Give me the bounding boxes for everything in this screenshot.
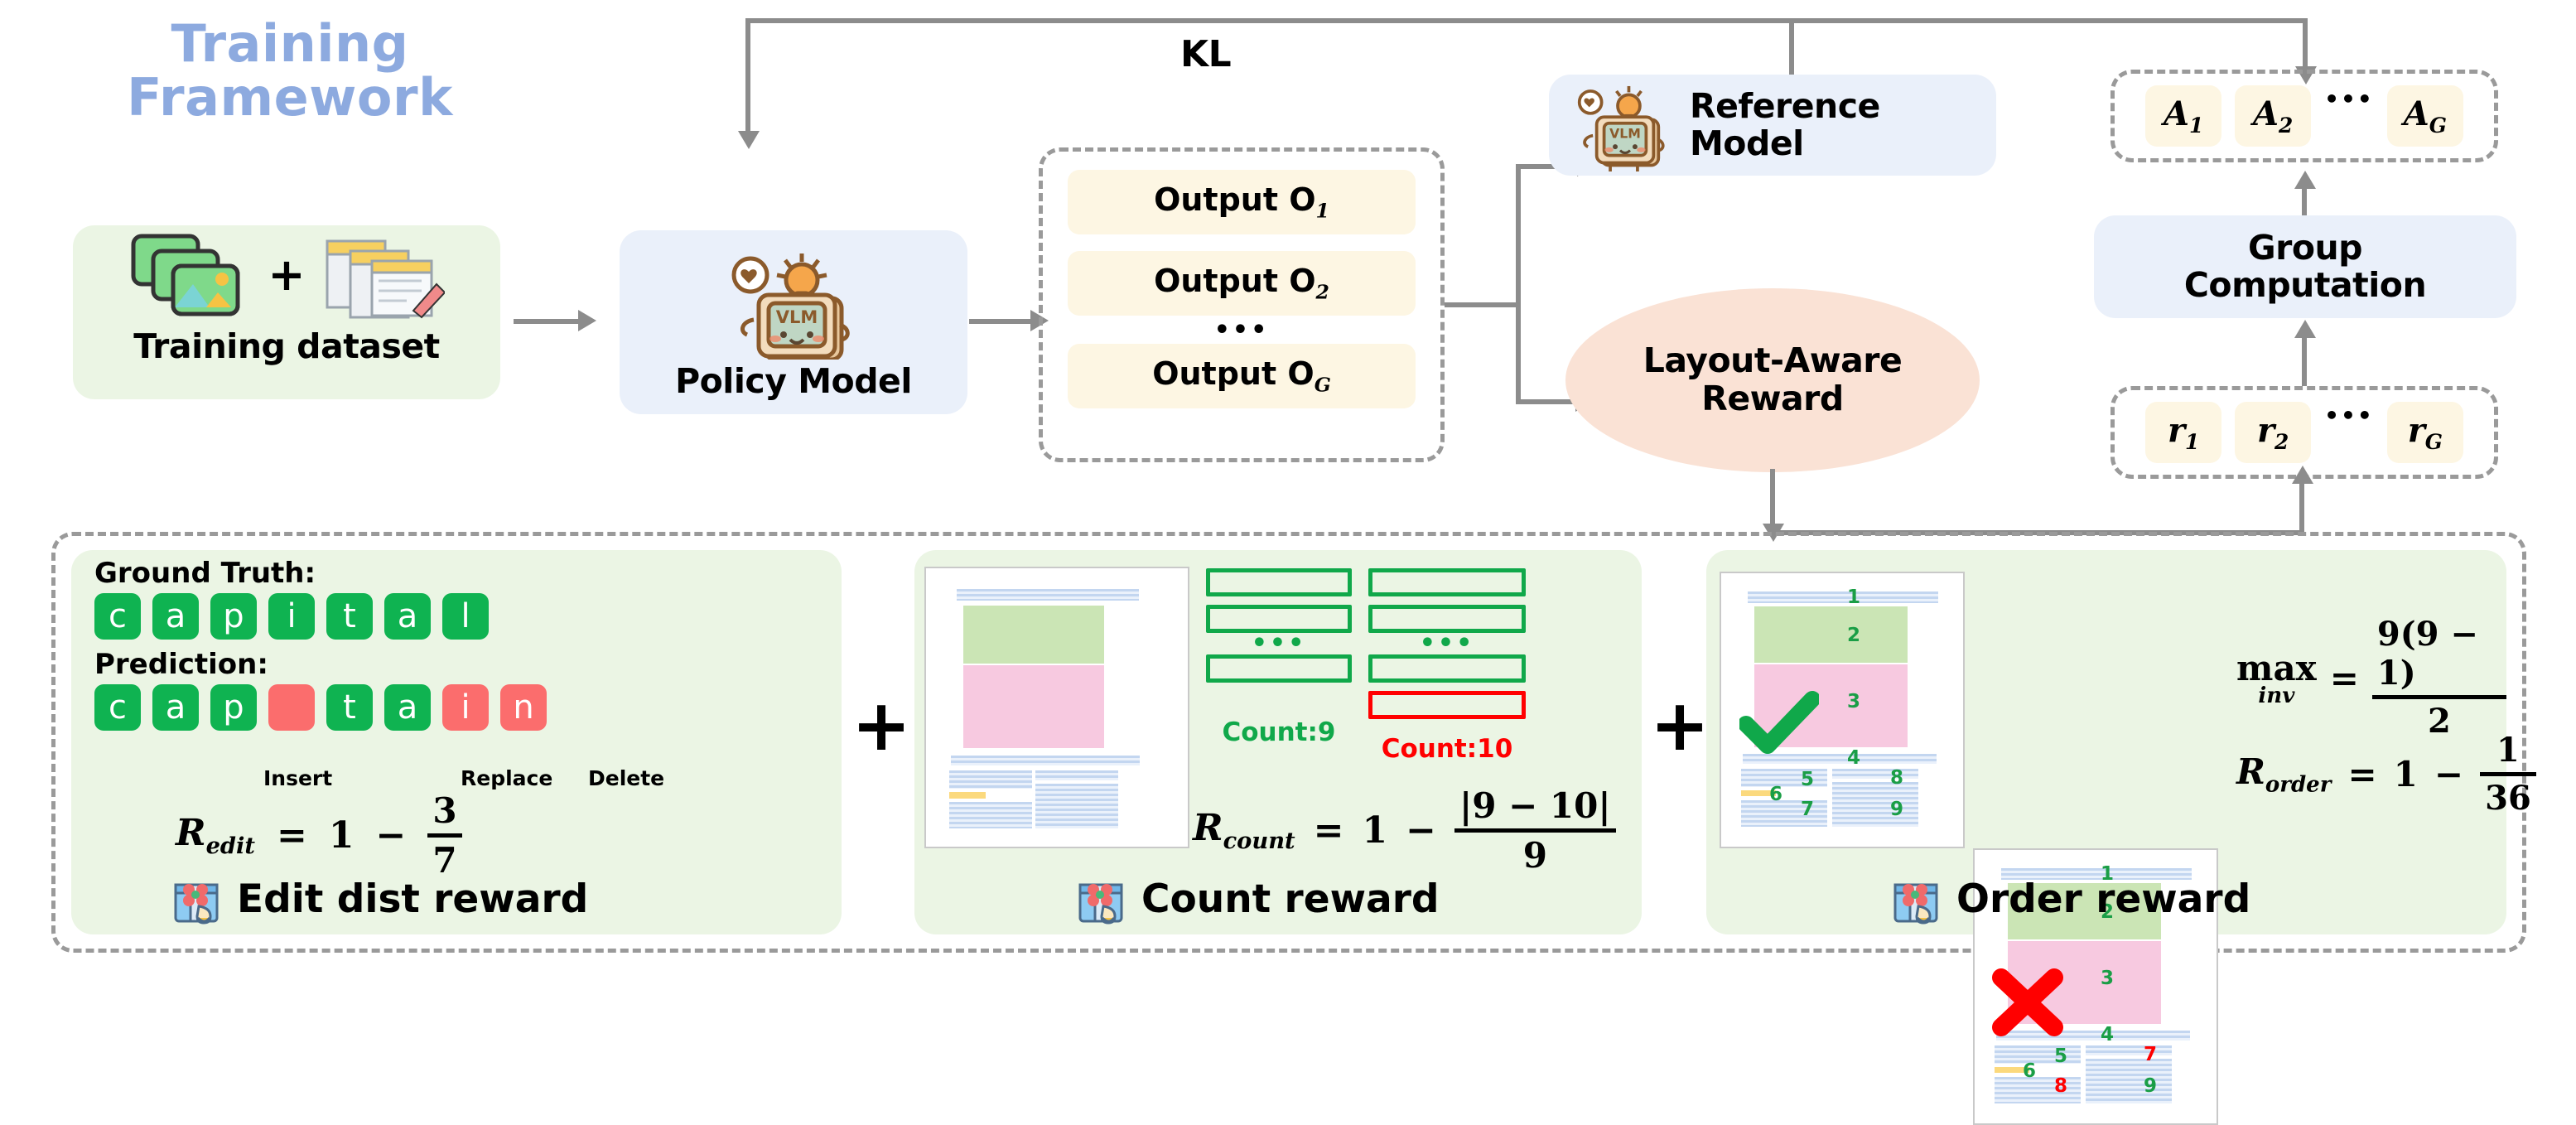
cross-icon bbox=[1991, 968, 2064, 1037]
count-document-mock bbox=[924, 567, 1189, 848]
kl-line-from-reference bbox=[1789, 18, 1794, 75]
order-formula-minus: − bbox=[2434, 754, 2463, 794]
doc-col-right-2 bbox=[1035, 784, 1118, 828]
reward-label-1: r1 bbox=[2168, 411, 2199, 454]
count-formula-lhs: R bbox=[1193, 807, 1223, 849]
edit-reward-title-row: Edit dist reward bbox=[171, 873, 588, 925]
pred-tile-insert bbox=[268, 684, 315, 731]
arrow-rewards-to-groupcomp bbox=[2294, 320, 2316, 338]
order-num-wrong: 3 bbox=[2101, 968, 2114, 989]
pred-tile: a bbox=[152, 684, 199, 731]
count-box-red bbox=[1368, 691, 1526, 719]
order-num-correct: 6 bbox=[1769, 784, 1782, 805]
gt-tile: t bbox=[326, 593, 373, 640]
edit-reward-title: Edit dist reward bbox=[237, 876, 588, 922]
edit-formula-one: 1 bbox=[329, 814, 355, 857]
layout-reward-line2: Reward bbox=[1643, 380, 1903, 418]
gift-box-icon bbox=[1075, 873, 1126, 925]
order-formula-fraction: 1 36 bbox=[2480, 731, 2536, 818]
count-box-green bbox=[1206, 568, 1352, 596]
doc-title-line bbox=[1748, 591, 1938, 603]
output-label-1: Output O1 bbox=[1154, 181, 1329, 223]
op-label-insert: Insert bbox=[263, 766, 332, 790]
vlm-mascot-icon: VLM bbox=[1564, 79, 1681, 171]
reward-label-2: r2 bbox=[2257, 411, 2289, 454]
page-title: Training Framework bbox=[99, 17, 480, 124]
kl-line-left-down bbox=[745, 18, 750, 134]
count-formula-eq: = bbox=[1314, 809, 1344, 852]
output-item-1[interactable]: Output O1 bbox=[1068, 170, 1416, 234]
order-num-wrong: 4 bbox=[2101, 1024, 2114, 1045]
training-dataset-label: Training dataset bbox=[73, 326, 500, 366]
doc-col-left-1 bbox=[949, 770, 1032, 789]
order-reward-title: Order reward bbox=[1956, 876, 2250, 922]
policy-mascot-vlm-text: VLM bbox=[776, 307, 818, 327]
pred-tile: c bbox=[94, 684, 141, 731]
order-formula-sub: order bbox=[2265, 772, 2332, 797]
doc-highlight bbox=[949, 792, 986, 799]
count-reward-title-row: Count reward bbox=[1075, 873, 1440, 925]
gift-box-icon bbox=[171, 873, 222, 925]
order-formula-one: 1 bbox=[2394, 754, 2418, 794]
count-formula-minus: − bbox=[1406, 809, 1436, 852]
advantage-item-2[interactable]: A2 bbox=[2235, 85, 2311, 147]
advantage-label-2: A2 bbox=[2253, 94, 2293, 138]
order-num-correct: 2 bbox=[1847, 625, 1860, 646]
plus-separator-1: + bbox=[851, 684, 911, 767]
order-formula-num: 1 bbox=[2492, 731, 2525, 770]
order-max-lhs: max bbox=[2236, 648, 2317, 688]
count-formula-one: 1 bbox=[1362, 809, 1387, 852]
notepad-stack-icon bbox=[321, 229, 445, 319]
advantage-item-g[interactable]: AG bbox=[2387, 85, 2463, 147]
page-title-line1: Training bbox=[99, 17, 480, 70]
doc-line-wide bbox=[951, 756, 1140, 765]
layout-aware-reward-ellipse[interactable]: Layout-Aware Reward bbox=[1565, 288, 1980, 472]
doc-col-right-1 bbox=[1832, 769, 1918, 779]
op-label-replace: Replace bbox=[461, 766, 552, 790]
reference-model-label-line1: Reference bbox=[1690, 88, 1880, 125]
doc-pink-block bbox=[963, 665, 1104, 748]
prediction-label: Prediction: bbox=[94, 648, 842, 681]
order-reward-panel: 1 2 3 4 5 6 7 8 9 1 2 3 4 5 6 8 7 9 bbox=[1706, 550, 2506, 934]
gt-tile: l bbox=[442, 593, 489, 640]
count-box-green bbox=[1206, 654, 1352, 683]
policy-model-label: Policy Model bbox=[675, 361, 912, 401]
output-sub-1: 1 bbox=[1316, 200, 1329, 223]
kl-label: KL bbox=[1180, 33, 1231, 75]
arrow-dataset-to-policy bbox=[578, 310, 596, 331]
ground-truth-tiles: c a p i t a l bbox=[94, 593, 842, 640]
count-right-column: ••• Count:10 bbox=[1368, 568, 1526, 764]
output-label-g: Output OG bbox=[1152, 355, 1331, 397]
doc-col-right-2 bbox=[1832, 782, 1918, 827]
edit-formula-eq: = bbox=[277, 814, 307, 857]
order-num-correct: 1 bbox=[1847, 587, 1860, 608]
check-icon bbox=[1739, 689, 1819, 756]
order-formula: Rorder = 1 − 1 36 bbox=[2236, 731, 2536, 818]
order-formula-den: 36 bbox=[2480, 779, 2536, 818]
edit-formula: Redit = 1 − 3 7 bbox=[176, 790, 462, 881]
pred-tile: a bbox=[384, 684, 431, 731]
count-left-label: Count:9 bbox=[1206, 717, 1352, 747]
advantage-label-g: AG bbox=[2404, 94, 2447, 138]
connector-rewards-to-groupcomp bbox=[2302, 338, 2307, 386]
group-computation-box[interactable]: Group Computation bbox=[2094, 215, 2516, 318]
order-max-formula: max inv = 9(9 − 1) 2 bbox=[2236, 615, 2506, 741]
arrow-into-rewards-row bbox=[2292, 466, 2313, 484]
gt-tile: i bbox=[268, 593, 315, 640]
connector-rewards-up bbox=[2299, 482, 2304, 532]
reward-label-g: rG bbox=[2408, 411, 2443, 454]
reference-mascot-vlm-text: VLM bbox=[1609, 126, 1641, 142]
plus-separator-2: + bbox=[1650, 684, 1710, 767]
order-formula-eq: = bbox=[2347, 754, 2376, 794]
doc-col-right-2 bbox=[2086, 1059, 2172, 1103]
order-num-correct: 8 bbox=[1890, 767, 1903, 789]
order-num-correct: 4 bbox=[1847, 747, 1860, 769]
gt-tile: a bbox=[152, 593, 199, 640]
group-computation-line2: Computation bbox=[2184, 267, 2426, 304]
doc-col-left-1 bbox=[1741, 769, 1827, 787]
reference-model-label: Reference Model bbox=[1690, 88, 1880, 162]
order-num-correct: 9 bbox=[1890, 799, 1903, 820]
edit-dist-reward-panel: Ground Truth: c a p i t a l Prediction: … bbox=[71, 550, 842, 934]
vlm-mascot-icon: VLM bbox=[721, 244, 866, 360]
doc-col-left-1 bbox=[1995, 1045, 2081, 1064]
order-num-wrong: 5 bbox=[2054, 1045, 2067, 1067]
count-right-ellipsis: ••• bbox=[1368, 640, 1526, 648]
edit-formula-fraction: 3 7 bbox=[427, 790, 461, 881]
order-num-correct: 7 bbox=[1801, 799, 1814, 820]
order-num-wrong-error: 8 bbox=[2054, 1075, 2067, 1097]
output-item-2[interactable]: Output O2 bbox=[1068, 251, 1416, 316]
connector-dataset-to-policy bbox=[514, 319, 580, 324]
doc-col-right-1 bbox=[2086, 1045, 2172, 1055]
policy-model-box[interactable]: VLM Policy Model bbox=[620, 230, 967, 414]
doc-green-block bbox=[1754, 606, 1908, 663]
op-label-delete: Delete bbox=[588, 766, 664, 790]
advantages-ellipsis: ••• bbox=[2324, 85, 2374, 113]
group-computation-line1: Group bbox=[2184, 229, 2426, 267]
count-formula-den: 9 bbox=[1518, 835, 1552, 876]
ground-truth-label: Ground Truth: bbox=[94, 557, 842, 590]
order-max-sub: inv bbox=[2258, 683, 2294, 708]
reward-item-1[interactable]: r1 bbox=[2145, 402, 2221, 463]
rewards-ellipsis: ••• bbox=[2324, 402, 2374, 429]
output-sub-g: G bbox=[1315, 374, 1331, 397]
edit-formula-lhs: R bbox=[176, 812, 206, 854]
order-document-correct: 1 2 3 4 5 6 7 8 9 bbox=[1720, 572, 1965, 848]
doc-col-left-2 bbox=[1741, 800, 1827, 827]
advantage-item-1[interactable]: A1 bbox=[2145, 85, 2221, 147]
count-reward-panel: ••• Count:9 ••• Count:10 Rcount = 1 − |9… bbox=[914, 550, 1642, 934]
edit-formula-num: 3 bbox=[427, 790, 461, 831]
order-num-wrong: 6 bbox=[2023, 1060, 2036, 1082]
prediction-tiles: c a p t a i n bbox=[94, 684, 842, 731]
pred-tile: t bbox=[326, 684, 373, 731]
connector-outputs-branch bbox=[1445, 302, 1519, 307]
order-num-wrong: 9 bbox=[2144, 1075, 2157, 1097]
plus-icon: + bbox=[268, 249, 305, 301]
gt-tile: a bbox=[384, 593, 431, 640]
count-box-green bbox=[1368, 568, 1526, 596]
count-left-ellipsis: ••• bbox=[1206, 640, 1352, 648]
count-formula: Rcount = 1 − |9 − 10| 9 bbox=[1193, 785, 1616, 876]
kl-line-to-advantages bbox=[2303, 18, 2308, 71]
connector-reward-down bbox=[1770, 469, 1775, 529]
reference-model-box[interactable]: VLM Reference Model bbox=[1549, 75, 1996, 176]
count-reward-title: Count reward bbox=[1141, 876, 1440, 922]
count-right-label: Count:10 bbox=[1368, 734, 1526, 764]
gt-tile: p bbox=[210, 593, 257, 640]
order-reward-title-row: Order reward bbox=[1890, 873, 2250, 925]
doc-title-line bbox=[957, 589, 1139, 601]
order-max-fraction: 9(9 − 1) 2 bbox=[2372, 615, 2506, 741]
edit-formula-minus: − bbox=[375, 814, 406, 857]
order-num-correct: 5 bbox=[1801, 769, 1814, 790]
kl-arrow-into-policy bbox=[738, 131, 760, 149]
output-label-2: Output O2 bbox=[1154, 263, 1329, 304]
layout-reward-line1: Layout-Aware bbox=[1643, 342, 1903, 380]
pred-tile: p bbox=[210, 684, 257, 731]
doc-col-left-2 bbox=[949, 802, 1032, 828]
order-max-eq: = bbox=[2330, 658, 2359, 698]
pred-tile-delete: n bbox=[500, 684, 547, 731]
page-title-line2: Framework bbox=[99, 70, 480, 124]
advantages-group: A1 A2 ••• AG bbox=[2110, 70, 2498, 162]
order-formula-lhs: R bbox=[2236, 751, 2265, 792]
reference-model-label-line2: Model bbox=[1690, 125, 1880, 162]
pred-tile-replace: i bbox=[442, 684, 489, 731]
order-num-wrong-error: 7 bbox=[2144, 1044, 2157, 1065]
count-box-green bbox=[1368, 654, 1526, 683]
edit-formula-sub: edit bbox=[206, 833, 255, 859]
doc-col-left-2 bbox=[1995, 1077, 2081, 1103]
count-left-column: ••• Count:9 bbox=[1206, 568, 1352, 747]
gift-box-icon bbox=[1890, 873, 1942, 925]
doc-col-right-1 bbox=[1035, 770, 1118, 780]
connector-branch-vertical bbox=[1516, 164, 1521, 404]
gt-tile: c bbox=[94, 593, 141, 640]
advantage-label-1: A1 bbox=[2164, 94, 2203, 138]
outputs-group: Output O1 Output O2 ••• Output OG bbox=[1039, 147, 1445, 462]
connector-policy-to-outputs bbox=[969, 319, 1034, 324]
images-stack-icon bbox=[128, 231, 253, 318]
order-max-num: 9(9 − 1) bbox=[2372, 615, 2506, 693]
arrow-groupcomp-to-advantages bbox=[2294, 171, 2316, 189]
doc-green-block bbox=[963, 606, 1104, 664]
count-formula-fraction: |9 − 10| 9 bbox=[1454, 785, 1616, 876]
count-formula-sub: count bbox=[1223, 828, 1295, 854]
output-item-g[interactable]: Output OG bbox=[1068, 344, 1416, 408]
reward-item-g[interactable]: rG bbox=[2387, 402, 2463, 463]
count-formula-num: |9 − 10| bbox=[1454, 785, 1616, 826]
output-sub-2: 2 bbox=[1316, 281, 1329, 304]
reward-item-2[interactable]: r2 bbox=[2235, 402, 2311, 463]
outputs-ellipsis: ••• bbox=[1043, 316, 1440, 344]
kl-line-top bbox=[745, 18, 2303, 23]
training-dataset-panel: + Training dataset bbox=[73, 225, 500, 399]
order-num-correct: 3 bbox=[1847, 691, 1860, 712]
